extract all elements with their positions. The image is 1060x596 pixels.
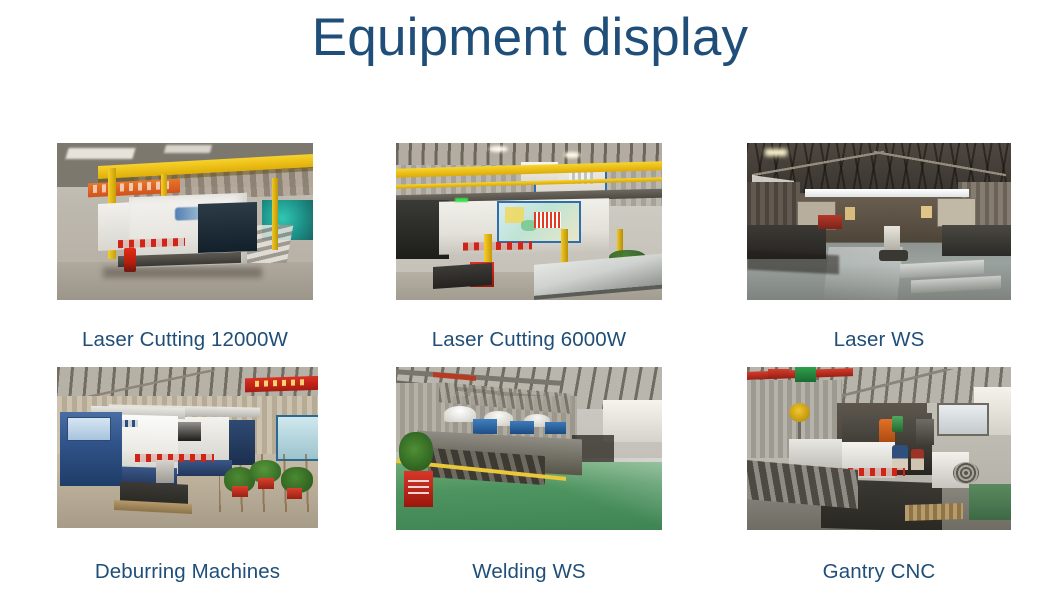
equipment-caption-4: Deburring Machines <box>57 560 318 584</box>
equipment-caption-2: Laser Cutting 6000W <box>396 328 662 352</box>
laser-ws-photo[interactable] <box>747 143 1011 300</box>
equipment-caption-5: Welding WS <box>396 560 662 584</box>
equipment-grid: Laser Cutting 12000W <box>0 0 1060 596</box>
equipment-card-1[interactable] <box>57 143 313 300</box>
welding-ws-photo[interactable] <box>396 367 662 530</box>
equipment-caption-1: Laser Cutting 12000W <box>57 328 313 352</box>
laser-cutting-12000w-photo[interactable] <box>57 143 313 300</box>
deburring-machines-photo[interactable] <box>57 367 318 528</box>
equipment-card-3[interactable] <box>747 143 1011 300</box>
equipment-card-4[interactable] <box>57 367 318 528</box>
gantry-cnc-photo[interactable] <box>747 367 1011 530</box>
equipment-card-5[interactable] <box>396 367 662 530</box>
slide-equipment-display: Equipment display <box>0 0 1060 596</box>
laser-cutting-6000w-photo[interactable] <box>396 143 662 300</box>
equipment-caption-3: Laser WS <box>747 328 1011 352</box>
equipment-card-2[interactable] <box>396 143 662 300</box>
equipment-card-6[interactable] <box>747 367 1011 530</box>
equipment-caption-6: Gantry CNC <box>747 560 1011 584</box>
